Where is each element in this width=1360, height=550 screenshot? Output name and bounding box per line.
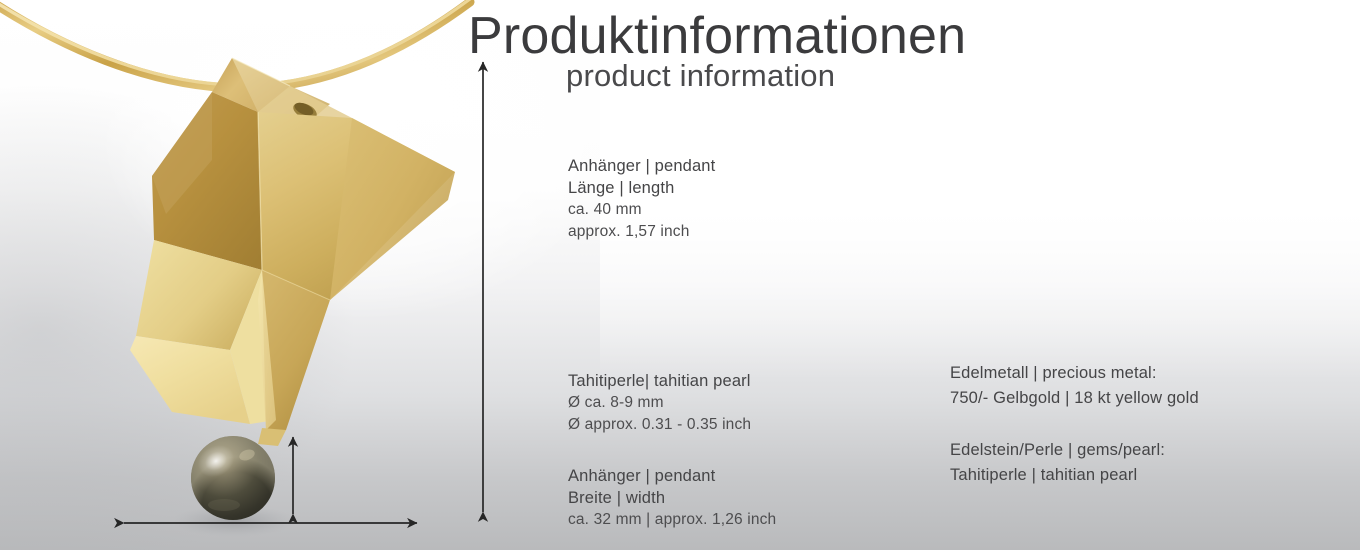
spec-length-line2: Länge | length	[568, 177, 715, 199]
spec-metal-line2: 750/- Gelbgold | 18 kt yellow gold	[950, 386, 1199, 411]
spec-pearl-line3: Ø approx. 0.31 - 0.35 inch	[568, 414, 751, 436]
spec-length-line1: Anhänger | pendant	[568, 155, 715, 177]
spec-pearl-line2: Ø ca. 8-9 mm	[568, 392, 751, 414]
page-title: Produktinformationen	[468, 6, 966, 66]
spec-width-line1: Anhänger | pendant	[568, 465, 776, 487]
spec-block-width: Anhänger | pendant Breite | width ca. 32…	[568, 465, 776, 531]
spec-block-pearl: Tahitiperle| tahitian pearl Ø ca. 8-9 mm…	[568, 370, 751, 436]
spec-gem-line2: Tahitiperle | tahitian pearl	[950, 463, 1165, 488]
spec-block-gem: Edelstein/Perle | gems/pearl: Tahitiperl…	[950, 438, 1165, 488]
product-information-slide: Produktinformationen product information…	[0, 0, 1360, 550]
page-subtitle: product information	[566, 58, 835, 94]
spec-width-line2: Breite | width	[568, 487, 776, 509]
spec-block-length: Anhänger | pendant Länge | length ca. 40…	[568, 155, 715, 243]
spec-length-line3: ca. 40 mm	[568, 199, 715, 221]
spec-block-metal: Edelmetall | precious metal: 750/- Gelbg…	[950, 361, 1199, 411]
spec-pearl-line1: Tahitiperle| tahitian pearl	[568, 370, 751, 392]
spec-length-line4: approx. 1,57 inch	[568, 221, 715, 243]
spec-metal-line1: Edelmetall | precious metal:	[950, 361, 1199, 386]
spec-gem-line1: Edelstein/Perle | gems/pearl:	[950, 438, 1165, 463]
spec-width-line3: ca. 32 mm | approx. 1,26 inch	[568, 509, 776, 531]
